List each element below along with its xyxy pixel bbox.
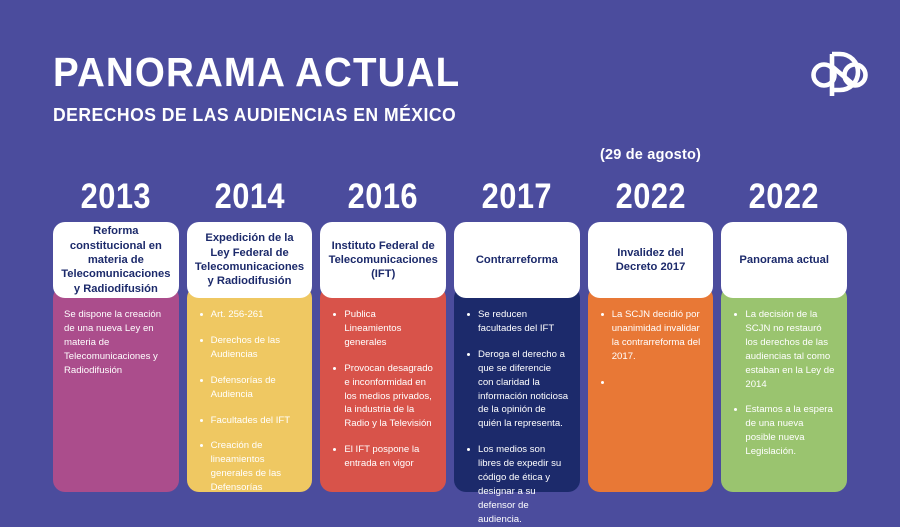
- timeline-card[interactable]: Panorama actualLa decisión de la SCJN no…: [721, 222, 847, 492]
- card-bullet-list: Se dispone la creación de una nueva Ley …: [64, 308, 168, 378]
- timeline-columns: 2013Reforma constitucional en materia de…: [53, 148, 847, 492]
- infographic-canvas: PANORAMA ACTUAL DERECHOS DE LAS AUDIENCI…: [0, 0, 900, 510]
- column-note: (29 de agosto): [588, 148, 714, 163]
- page-subtitle: DERECHOS DE LAS AUDIENCIAS EN MÉXICO: [53, 106, 465, 125]
- card-body: Art. 256-261Derechos de las AudienciasDe…: [187, 286, 313, 492]
- card-bullet-list: Art. 256-261Derechos de las AudienciasDe…: [198, 308, 302, 495]
- card-header: Contrarreforma: [454, 222, 580, 298]
- card-title: Instituto Federal de Telecomunicaciones …: [329, 239, 438, 282]
- card-bullet-item: Estamos a la espera de una nueva posible…: [732, 403, 836, 459]
- card-bullet-item: Se dispone la creación de una nueva Ley …: [64, 308, 168, 378]
- card-body: Publica Lineamientos generalesProvocan d…: [320, 286, 446, 492]
- card-body: La decisión de la SCJN no restauró los d…: [721, 286, 847, 492]
- card-title: Invalidez del Decreto 2017: [597, 246, 705, 275]
- card-bullet-item: Defensorías de Audiencia: [198, 374, 302, 402]
- card-bullet-item: Creación de lineamientos generales de la…: [198, 439, 302, 495]
- column-year: 2013: [61, 179, 172, 214]
- card-header: Invalidez del Decreto 2017: [588, 222, 714, 298]
- card-bullet-item: Se reducen facultades del IFT: [465, 308, 569, 336]
- card-bullet-list: La SCJN decidió por unanimidad invalidar…: [599, 308, 703, 364]
- timeline-column: 2022Panorama actualLa decisión de la SCJ…: [721, 148, 847, 492]
- column-year: 2017: [462, 179, 573, 214]
- timeline-card[interactable]: Invalidez del Decreto 2017La SCJN decidi…: [588, 222, 714, 492]
- card-bullet-list: Publica Lineamientos generalesProvocan d…: [331, 308, 435, 471]
- column-year: 2022: [729, 179, 840, 214]
- card-bullet-item: Facultades del IFT: [198, 414, 302, 428]
- timeline-card[interactable]: ContrarreformaSe reducen facultades del …: [454, 222, 580, 492]
- card-body: Se dispone la creación de una nueva Ley …: [53, 286, 179, 492]
- column-year: 2022: [595, 179, 706, 214]
- interlocking-d-logo-icon: [810, 44, 870, 106]
- card-title: Panorama actual: [739, 253, 829, 267]
- timeline-card[interactable]: Reforma constitucional en materia de Tel…: [53, 222, 179, 492]
- timeline-card[interactable]: Expedición de la Ley Federal de Telecomu…: [187, 222, 313, 492]
- card-body: La SCJN decidió por unanimidad invalidar…: [588, 286, 714, 492]
- card-bullet-item: Deroga el derecho a que se diferencie co…: [465, 348, 569, 431]
- card-header: Expedición de la Ley Federal de Telecomu…: [187, 222, 313, 298]
- card-bullet-item: La SCJN decidió por unanimidad invalidar…: [599, 308, 703, 364]
- page-title: PANORAMA ACTUAL: [53, 52, 460, 93]
- card-bullet-item: Provocan desagrado e inconformidad en lo…: [331, 362, 435, 432]
- column-year: 2014: [194, 179, 305, 214]
- card-body: Se reducen facultades del IFTDeroga el d…: [454, 286, 580, 492]
- card-header: Instituto Federal de Telecomunicaciones …: [320, 222, 446, 298]
- card-title: Contrarreforma: [476, 253, 558, 267]
- card-bullet-item: Derechos de las Audiencias: [198, 334, 302, 362]
- card-bullet-item: La decisión de la SCJN no restauró los d…: [732, 308, 836, 391]
- timeline-column: 2016Instituto Federal de Telecomunicacio…: [320, 148, 446, 492]
- timeline-column: (29 de agosto)2022Invalidez del Decreto …: [588, 148, 714, 492]
- timeline-column: 2013Reforma constitucional en materia de…: [53, 148, 179, 492]
- timeline-column: 2014Expedición de la Ley Federal de Tele…: [187, 148, 313, 492]
- card-header: Panorama actual: [721, 222, 847, 298]
- card-bullet-item: Art. 256-261: [198, 308, 302, 322]
- card-bullet-list: La decisión de la SCJN no restauró los d…: [732, 308, 836, 459]
- card-bullet-item: El IFT pospone la entrada en vigor: [331, 443, 435, 471]
- card-header: Reforma constitucional en materia de Tel…: [53, 222, 179, 298]
- card-bullet-item: Los medios son libres de expedir su códi…: [465, 443, 569, 526]
- timeline-card[interactable]: Instituto Federal de Telecomunicaciones …: [320, 222, 446, 492]
- card-bullet-list: Se reducen facultades del IFTDeroga el d…: [465, 308, 569, 527]
- card-title: Reforma constitucional en materia de Tel…: [61, 224, 170, 296]
- header-block: PANORAMA ACTUAL DERECHOS DE LAS AUDIENCI…: [53, 52, 486, 125]
- card-bullet-item: Publica Lineamientos generales: [331, 308, 435, 350]
- column-year: 2016: [328, 179, 439, 214]
- card-title: Expedición de la Ley Federal de Telecomu…: [195, 231, 304, 288]
- timeline-column: 2017ContrarreformaSe reducen facultades …: [454, 148, 580, 492]
